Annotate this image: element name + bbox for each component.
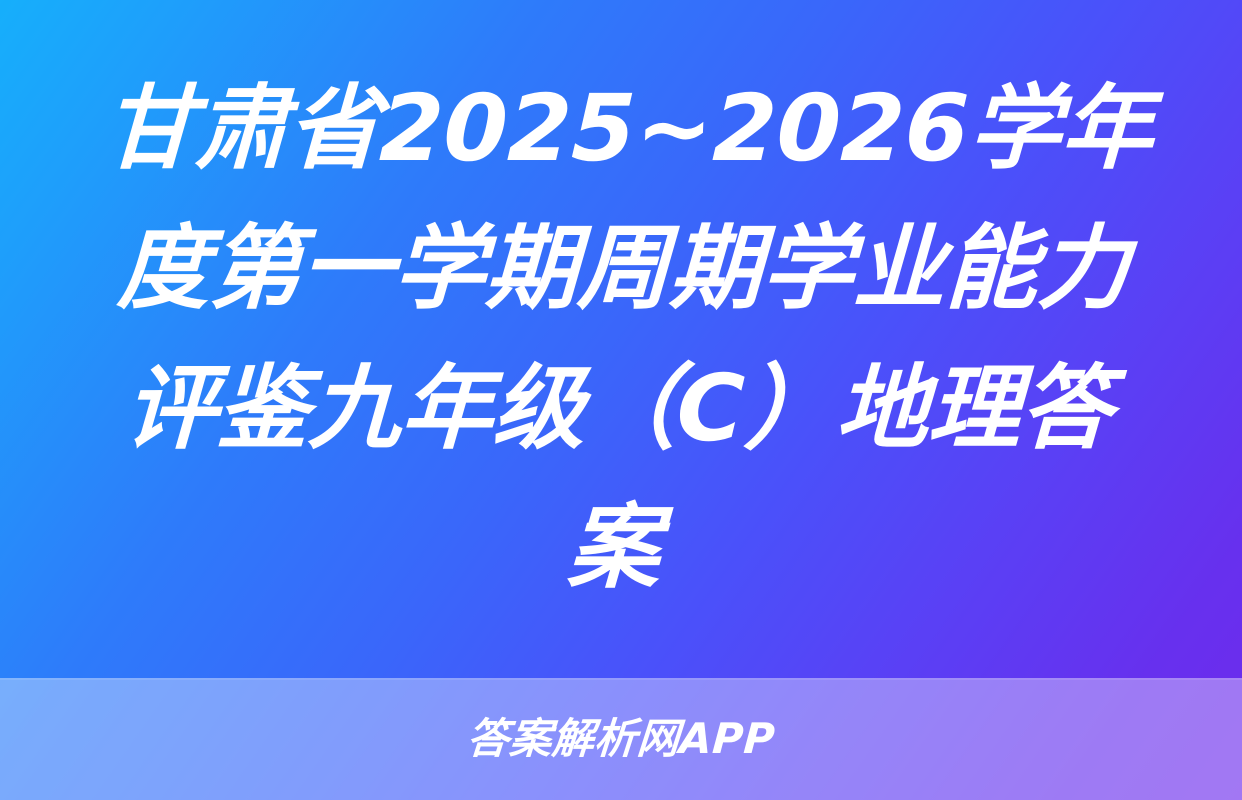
title-block: 甘肃省2025~2026学年度第一学期周期学业能力评鉴九年级（C）地理答案: [0, 0, 1242, 678]
watermark-label: 答案解析网APP: [465, 718, 776, 760]
page-title: 甘肃省2025~2026学年度第一学期周期学业能力评鉴九年级（C）地理答案: [82, 59, 1160, 618]
poster-canvas: 甘肃省2025~2026学年度第一学期周期学业能力评鉴九年级（C）地理答案 答案…: [0, 0, 1242, 800]
footer-watermark-bar: 答案解析网APP: [0, 678, 1242, 800]
